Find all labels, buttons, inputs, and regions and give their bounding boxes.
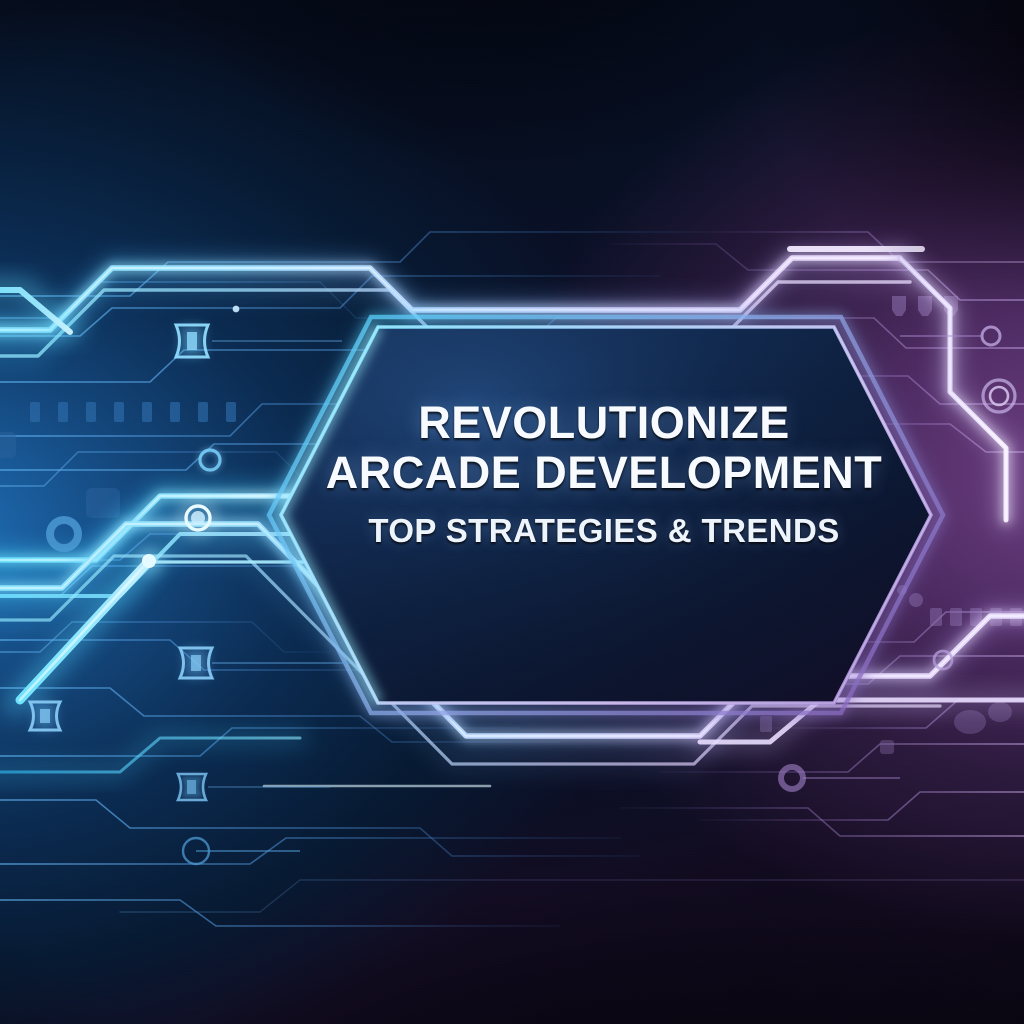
corner-shading	[0, 0, 1024, 1024]
hero-banner: REVOLUTIONIZE ARCADE DEVELOPMENT TOP STR…	[0, 0, 1024, 1024]
